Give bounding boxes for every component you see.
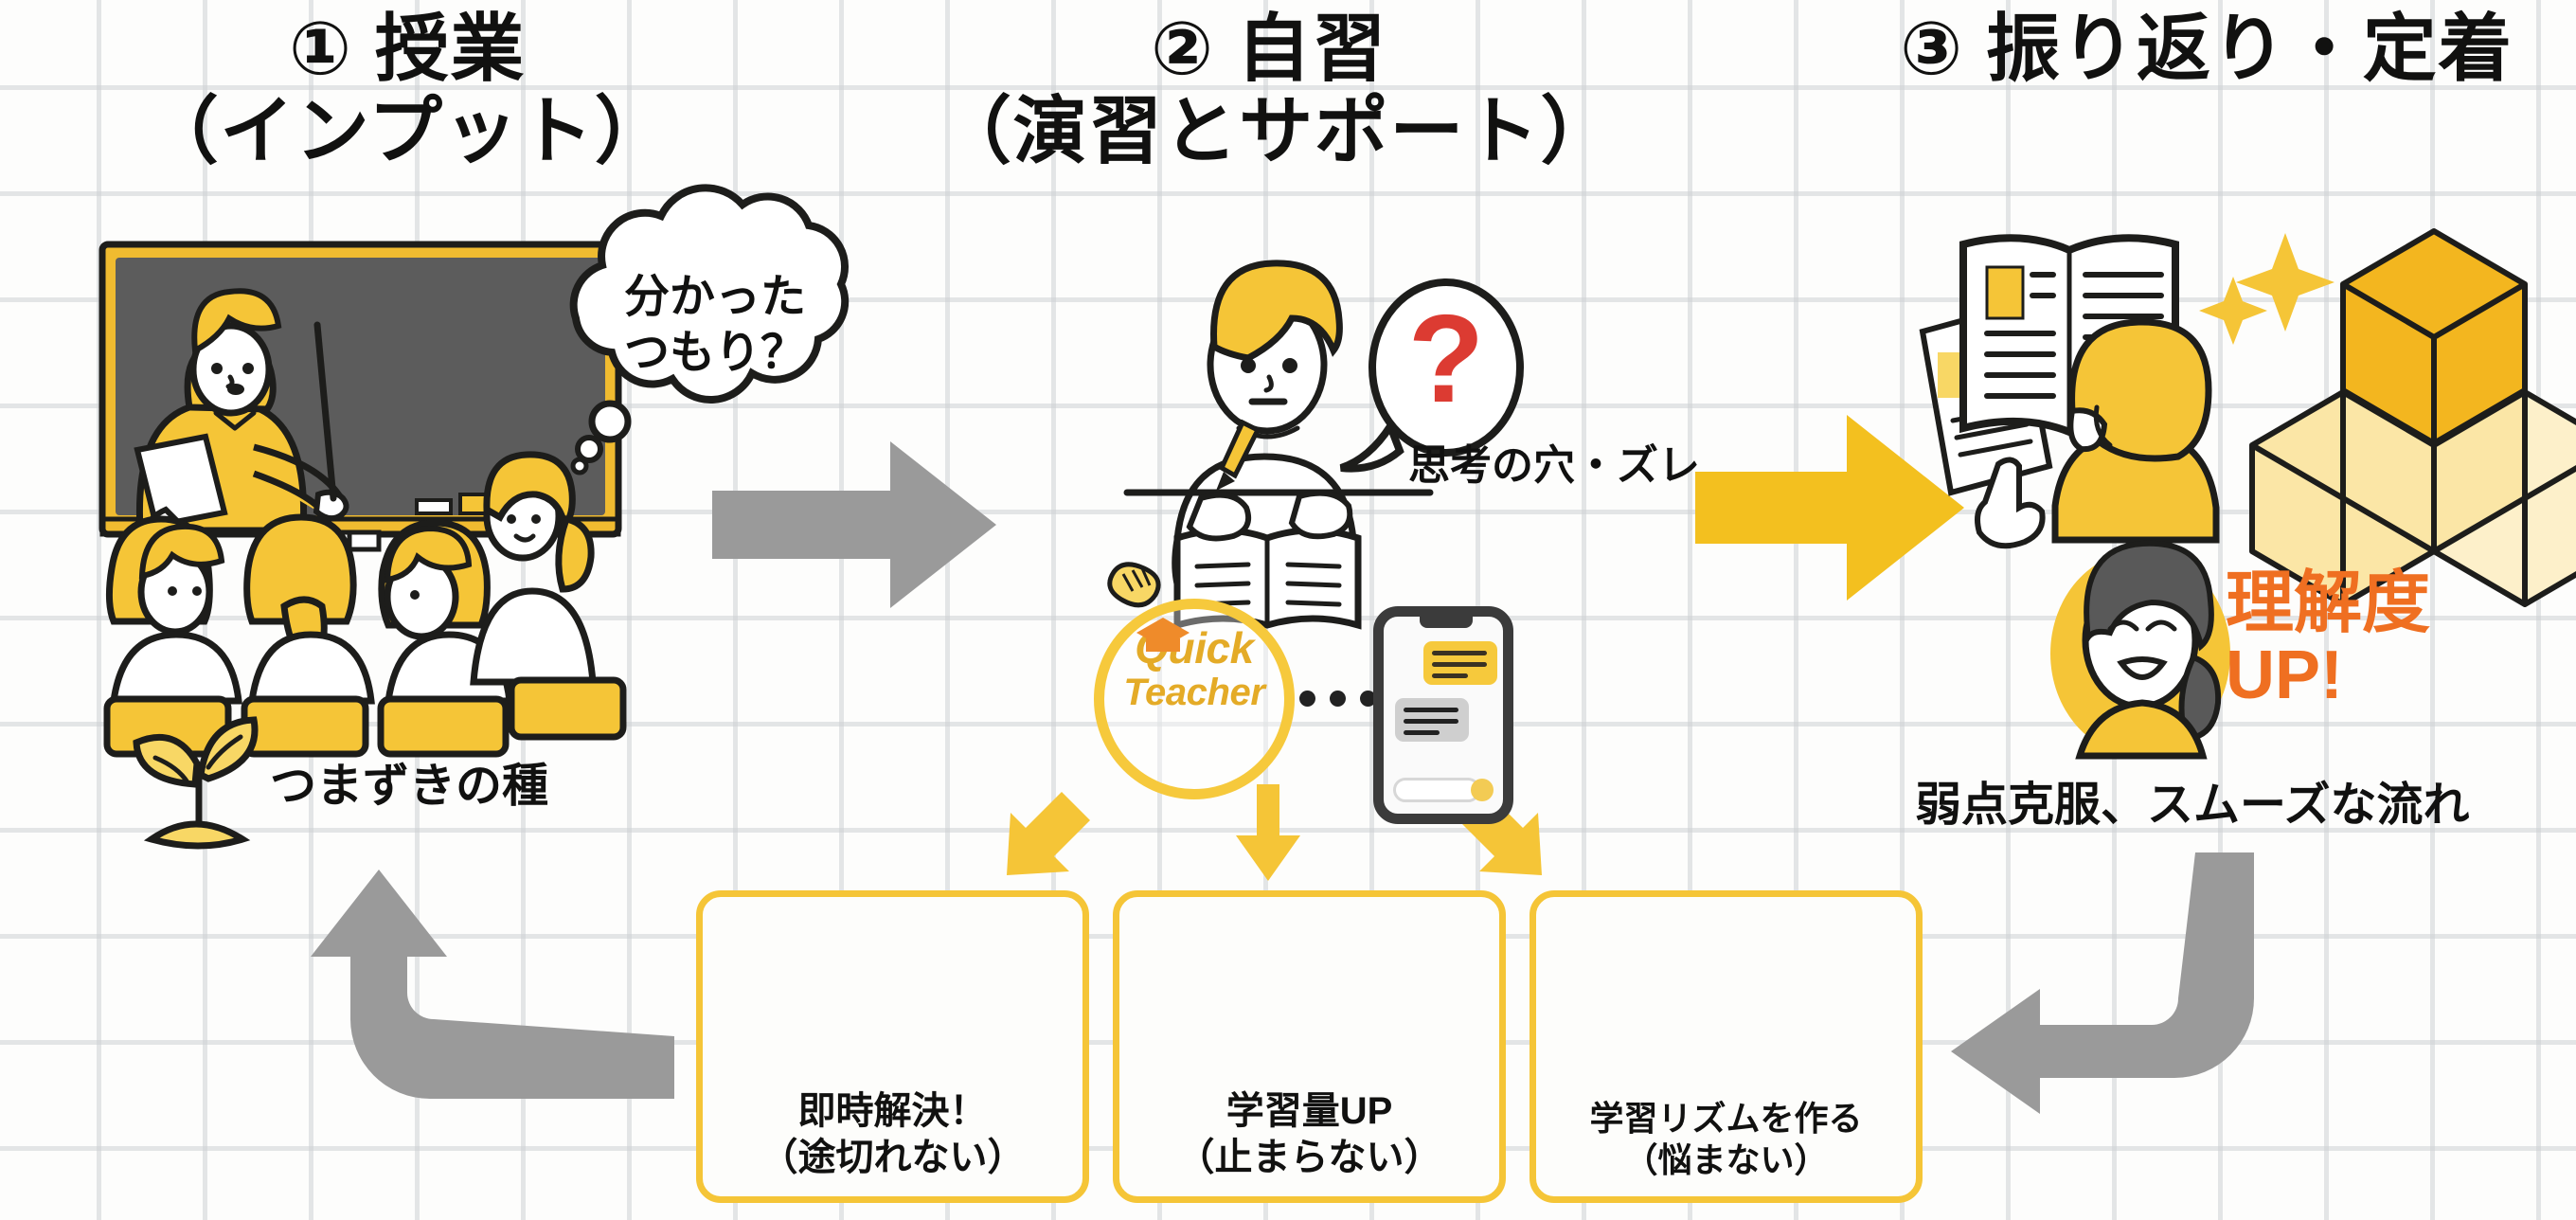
svg-text:?: ?	[1408, 289, 1485, 428]
feature-box-instant[interactable]: 即時解決！ （途切れない）	[696, 890, 1089, 1203]
arrow-lesson-to-selfstudy	[712, 441, 996, 608]
feature-box-rhythm-label: 学習リズムを作る （悩まない）	[1536, 1098, 1916, 1181]
chat-send-button[interactable]	[1471, 779, 1494, 801]
dot-1	[1299, 691, 1315, 707]
section-title-selfstudy: ② 自習 （演習とサポート）	[938, 8, 1601, 173]
sprout-icon	[136, 720, 255, 846]
arrow-qt-to-box2	[1236, 784, 1300, 881]
caption-smooth-flow: 弱点克服、スムーズな流れ	[1915, 767, 2470, 834]
understanding-up-badge: 理解度 UP!	[2226, 568, 2538, 711]
arrow-qt-to-box1	[1007, 792, 1090, 875]
arrow-boxes-loop	[311, 870, 674, 1099]
connector-dots	[1299, 691, 1376, 707]
chat-bubble-incoming	[1395, 698, 1469, 742]
logo-line-2: Teacher	[1094, 673, 1295, 713]
section-title-lesson: ① 授業 （インプット）	[104, 8, 710, 173]
dot-2	[1330, 691, 1346, 707]
section-title-review: ③ 振り返り・定着	[1837, 8, 2576, 90]
quick-teacher-logo-text: Quick Teacher	[1094, 625, 1295, 713]
classroom-illustration	[102, 244, 623, 754]
arrow-selfstudy-to-review	[1695, 415, 1964, 601]
feature-box-rhythm[interactable]: 学習リズムを作る （悩まない）	[1529, 890, 1923, 1203]
logo-line-1: Quick	[1094, 625, 1295, 673]
feature-box-volume[interactable]: 学習量UP （止まらない）	[1113, 890, 1506, 1203]
caption-thinking-gap: 思考の穴・ズレ	[1408, 431, 1700, 492]
chat-bubble-outgoing	[1423, 641, 1497, 685]
thought-bubble-text: 分かった つもり？	[573, 270, 857, 381]
graduation-cap-icon	[1133, 614, 1193, 659]
infographic-canvas: ① 授業 （インプット） ② 自習 （演習とサポート） ③ 振り返り・定着 .l…	[0, 0, 2576, 1220]
feature-box-volume-label: 学習量UP （止まらない）	[1119, 1088, 1499, 1181]
smartphone-chat-icon[interactable]	[1373, 606, 1513, 824]
phone-notch	[1420, 617, 1473, 628]
feature-box-instant-label: 即時解決！ （途切れない）	[703, 1088, 1082, 1181]
chat-input-field[interactable]	[1393, 778, 1480, 802]
arrow-review-loop	[1951, 852, 2254, 1114]
caption-seed-of-stumbling: つまずきの種	[270, 748, 548, 816]
